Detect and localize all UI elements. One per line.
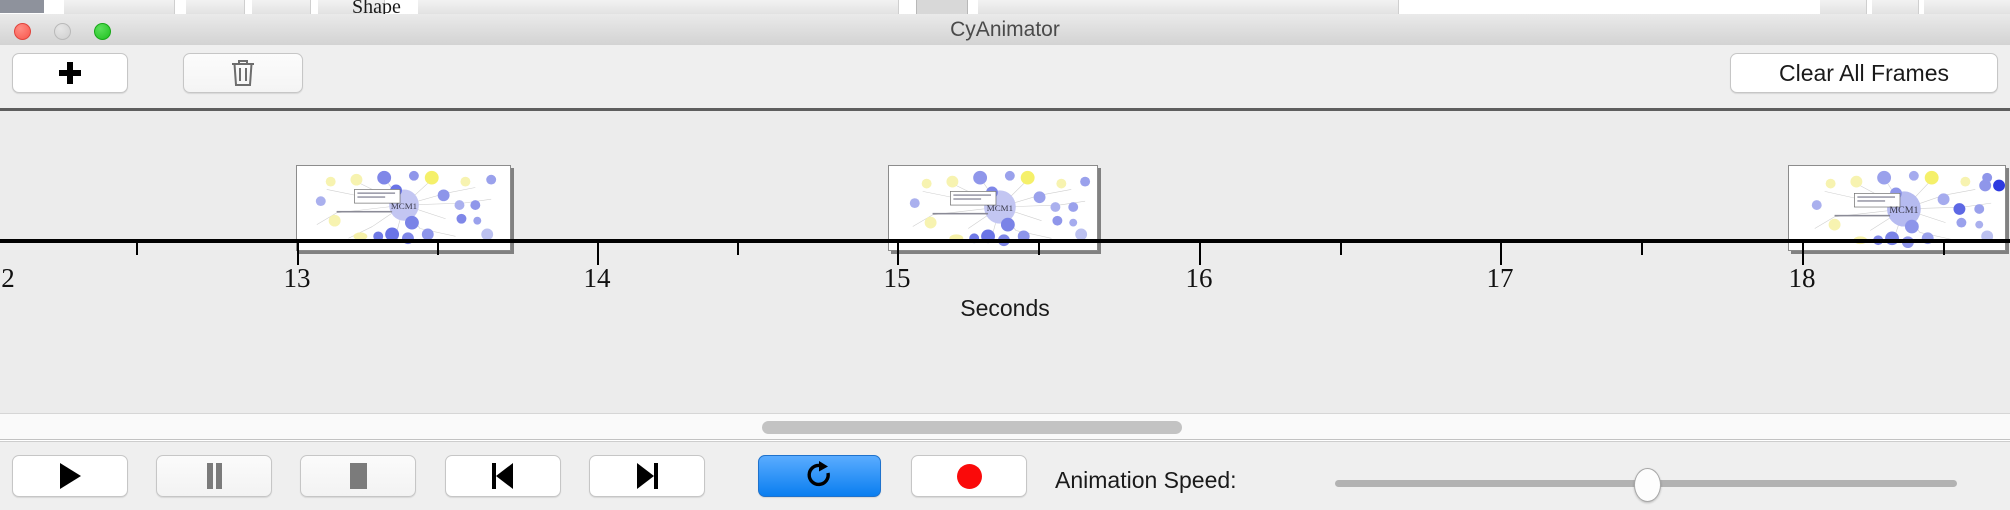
record-button[interactable] [911, 455, 1027, 497]
background-chunk [64, 0, 175, 14]
ruler-label: 17 [1487, 263, 1514, 294]
ruler-label: 13 [284, 263, 311, 294]
background-sidebar-chip [0, 0, 44, 13]
skip-start-button[interactable] [445, 455, 561, 497]
ruler-tick-minor [737, 243, 739, 255]
delete-frame-button[interactable] [183, 53, 303, 93]
background-chunk [1924, 0, 2010, 14]
background-chunk [1872, 0, 1919, 14]
axis-title-seconds: Seconds [0, 295, 2010, 322]
ruler-tick-minor [1038, 243, 1040, 255]
network-graph-preview: MCM1 [1789, 166, 2005, 250]
stop-icon [350, 463, 367, 489]
playback-toolbar: Animation Speed: [0, 441, 2010, 510]
ruler-tick-major [1199, 243, 1201, 265]
ruler-tick-minor [437, 243, 439, 255]
ruler-tick-major [897, 243, 899, 265]
ruler-label: 14 [584, 263, 611, 294]
title-bar: CyAnimator [0, 14, 2010, 46]
ruler-label: 15 [884, 263, 911, 294]
skip-previous-icon [492, 463, 514, 489]
ruler-tick-major [597, 243, 599, 265]
ruler-tick-major [1500, 243, 1502, 265]
timeline-panel[interactable]: MCM1 [0, 111, 2010, 413]
add-frame-button[interactable] [12, 53, 128, 93]
ruler-tick-major [297, 243, 299, 265]
svg-text:MCM1: MCM1 [391, 201, 417, 211]
background-chunk [978, 0, 1399, 14]
cyanimator-window: Shape CyAnimator Clear All Frames [0, 0, 2010, 510]
skip-next-icon [636, 463, 658, 489]
trash-icon [230, 58, 256, 88]
pause-button[interactable] [156, 455, 272, 497]
ruler-tick-minor [1340, 243, 1342, 255]
network-graph-preview: MCM1 [297, 166, 510, 250]
clear-all-frames-button[interactable]: Clear All Frames [1730, 53, 1998, 93]
background-window-label: Shape [352, 0, 401, 14]
pause-icon [206, 463, 223, 489]
background-chunk [186, 0, 245, 14]
loop-icon [806, 461, 834, 491]
timeline-ruler [0, 239, 2010, 243]
ruler-tick-major [1802, 243, 1804, 265]
play-button[interactable] [12, 455, 128, 497]
network-graph-preview: MCM1 [889, 166, 1097, 250]
svg-text:MCM1: MCM1 [987, 203, 1013, 213]
background-tab [916, 0, 968, 14]
plus-icon [59, 62, 81, 84]
background-chunk [252, 0, 311, 14]
ruler-tick-minor [1943, 243, 1945, 255]
ruler-label: 16 [1186, 263, 1213, 294]
ruler-label: 18 [1789, 263, 1816, 294]
svg-text:MCM1: MCM1 [1889, 205, 1918, 216]
play-icon [60, 463, 81, 489]
skip-end-button[interactable] [589, 455, 705, 497]
record-icon [957, 464, 982, 489]
loop-button[interactable] [758, 455, 881, 497]
timeline-scrollbar[interactable] [0, 413, 2010, 440]
animation-speed-thumb[interactable] [1634, 468, 1661, 502]
window-title: CyAnimator [0, 14, 2010, 45]
ruler-tick-minor [136, 243, 138, 255]
ruler-tick-minor [1641, 243, 1643, 255]
background-chunk [1820, 0, 1867, 14]
ruler-label: 2 [1, 263, 15, 294]
animation-speed-label: Animation Speed: [1055, 467, 1237, 494]
background-window-strip: Shape [0, 0, 2010, 14]
scrollbar-thumb[interactable] [762, 421, 1182, 434]
background-chunk [418, 0, 899, 14]
stop-button[interactable] [300, 455, 416, 497]
